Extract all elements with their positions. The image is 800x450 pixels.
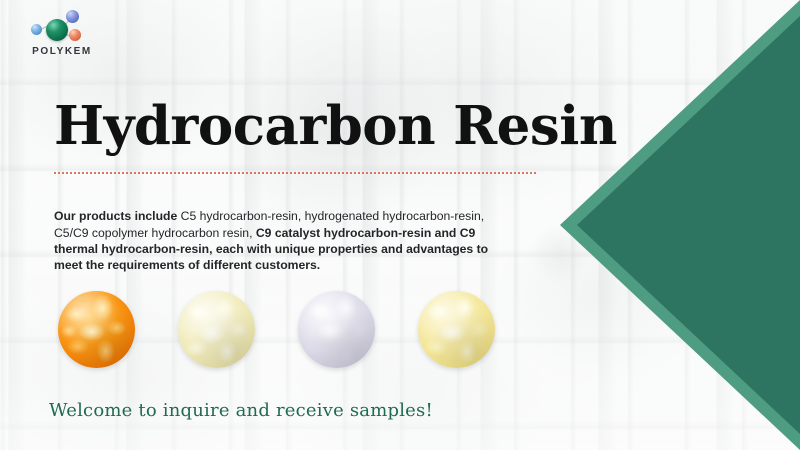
- blue-sphere-top-icon: [66, 10, 79, 23]
- gloss-highlight: [298, 291, 375, 368]
- page-title: Hydrocarbon Resin: [54, 99, 617, 155]
- blue-sphere-left-icon: [31, 24, 42, 35]
- product-swatch-c9-thermal-yellow[interactable]: [418, 291, 495, 368]
- gloss-highlight: [178, 291, 255, 368]
- brand-logo[interactable]: POLYKEM: [18, 10, 106, 62]
- footer-cta-text: Welcome to inquire and receive samples!: [49, 400, 433, 421]
- gloss-highlight: [418, 291, 495, 368]
- description-lead: Our products include: [54, 209, 177, 223]
- brand-name: POLYKEM: [18, 46, 106, 57]
- molecule-spheres-icon: [30, 10, 90, 44]
- product-swatch-c9-catalyst-white[interactable]: [298, 291, 375, 368]
- title-dotted-rule: [54, 172, 536, 174]
- green-sphere-icon: [46, 19, 68, 41]
- product-swatch-row: [58, 291, 498, 369]
- slide-canvas: POLYKEM Hydrocarbon Resin Our products i…: [0, 0, 800, 450]
- product-swatch-hydrogenated-cream[interactable]: [178, 291, 255, 368]
- orange-sphere-icon: [69, 29, 81, 41]
- product-description: Our products include C5 hydrocarbon-resi…: [54, 208, 490, 274]
- product-swatch-c5-orange[interactable]: [58, 291, 135, 368]
- gloss-highlight: [58, 291, 135, 368]
